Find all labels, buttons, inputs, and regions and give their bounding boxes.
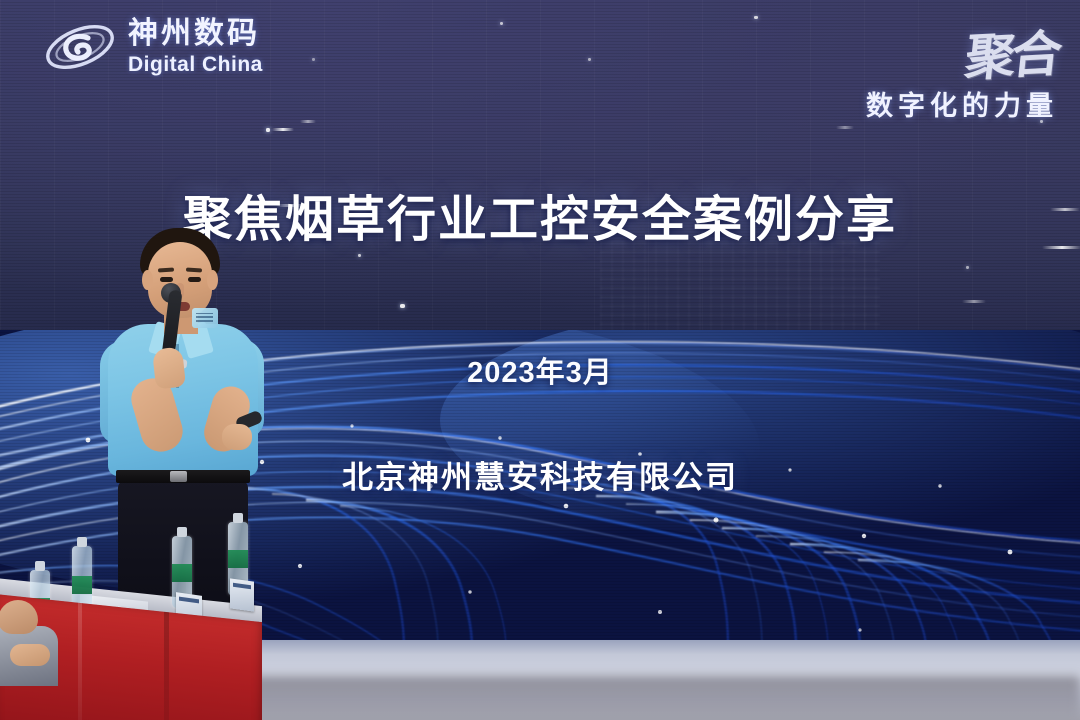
name-card [230, 578, 254, 611]
digital-china-swirl-logo-icon [42, 18, 118, 76]
bottle-cap [77, 537, 87, 547]
particle-dot [966, 266, 969, 269]
bottle-cap [35, 561, 45, 571]
bottle-cap [177, 527, 187, 537]
speaker-belt-buckle [170, 471, 187, 482]
particle-dot [500, 22, 503, 25]
attendee-hand [10, 644, 50, 666]
speaker-ear-left [142, 270, 153, 290]
bottle-cap [233, 513, 243, 523]
digital-china-wordmark: 神州数码 Digital China [128, 19, 263, 75]
speaker-eye-left [160, 277, 173, 282]
brand-name-cn: 神州数码 [128, 19, 263, 49]
speaker-hand-right [222, 424, 252, 450]
speaker-ear-right [207, 270, 218, 290]
attendee-head [0, 600, 38, 634]
event-calligraphy: 聚合 [962, 14, 1062, 91]
particle-dot [266, 128, 270, 132]
conference-photo: 神州数码 Digital China 聚合 数字化的力量 聚焦烟草行业工控安全案… [0, 0, 1080, 720]
bottle-label [228, 550, 248, 568]
particle-dash [962, 300, 986, 303]
speaker-hand-left [152, 347, 186, 390]
event-logo: 聚合 数字化的力量 [866, 16, 1058, 123]
particle-dot [400, 304, 405, 308]
brand-name-en: Digital China [128, 54, 263, 75]
seated-attendee [0, 600, 74, 690]
bottle-label [172, 564, 192, 582]
bottle-label [72, 576, 92, 594]
stage-floor-shadow [250, 676, 1080, 720]
particle-dot [754, 16, 758, 19]
particle-dot [588, 58, 591, 61]
particle-dot [312, 58, 315, 61]
digital-china-logo: 神州数码 Digital China [42, 18, 263, 76]
particle-dash [836, 126, 854, 129]
particle-dot [358, 254, 361, 257]
speaker-shirt-logo-patch [192, 308, 218, 328]
particle-dash [272, 128, 294, 131]
particle-dash [300, 120, 316, 123]
speaker-eye-right [188, 277, 201, 282]
